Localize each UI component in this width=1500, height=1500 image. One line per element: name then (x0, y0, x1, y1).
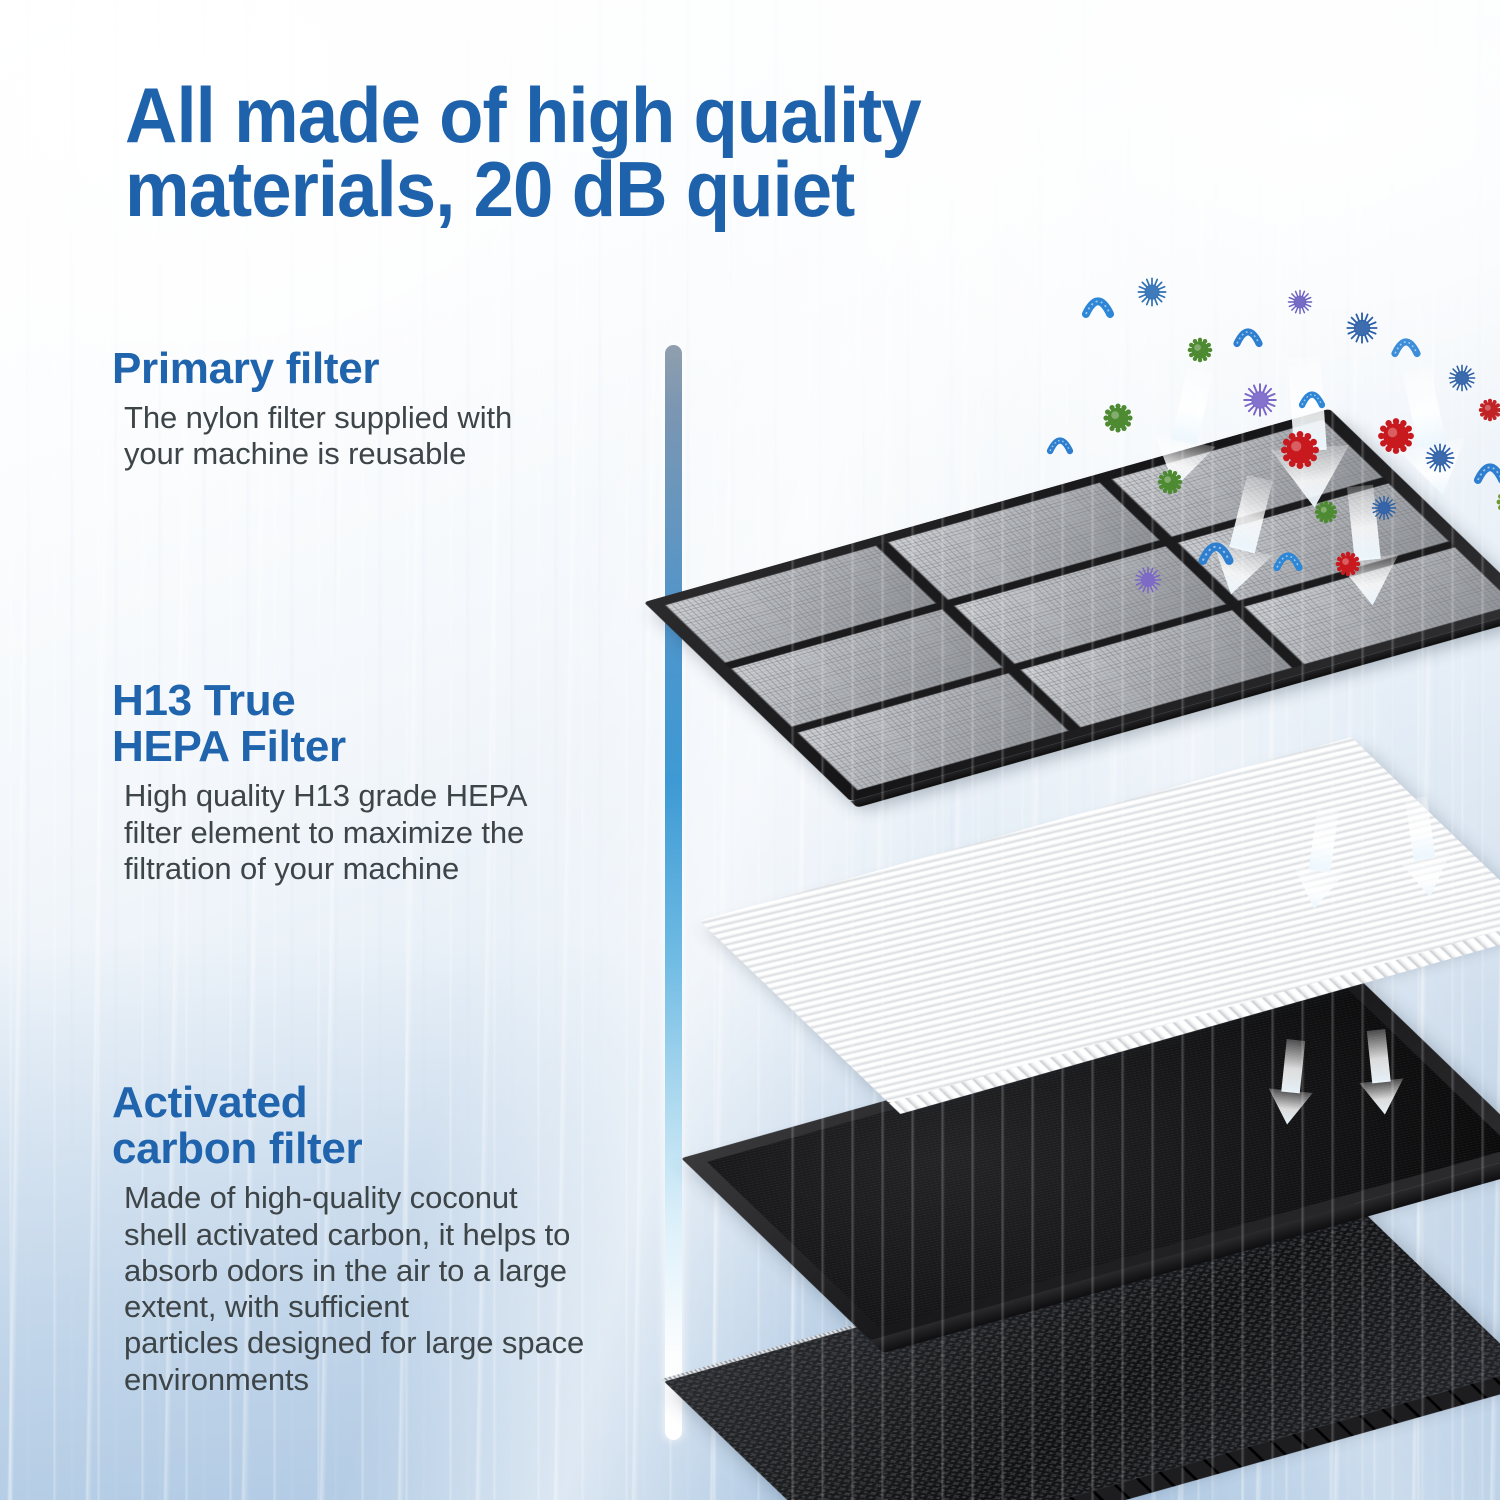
bacteria-rod-icon (1050, 441, 1070, 451)
feature-body-line-1: High quality H13 grade HEPA (124, 778, 672, 814)
carbon-slat-edge (849, 1368, 1500, 1500)
page-title: All made of high quality materials, 20 d… (125, 78, 1055, 226)
feature-body-carbon-filter: Made of high-quality coconut shell activ… (112, 1180, 672, 1398)
feature-section-carbon-filter: Activated carbon filter Made of high-qua… (112, 1080, 672, 1398)
feature-title-line-1: Primary filter (112, 346, 672, 392)
virus-spiky-icon (1449, 365, 1474, 390)
mesh-grid (664, 419, 1500, 790)
feature-title-line-1: H13 True (112, 678, 672, 724)
feature-title-hepa-filter: H13 True HEPA Filter (112, 678, 672, 770)
layer-primary-mesh-filter (644, 409, 1500, 802)
feature-body-line-3: absorb odors in the air to a large (124, 1253, 672, 1289)
feature-body-primary-filter: The nylon filter supplied with your mach… (112, 400, 672, 473)
bacteria-rod-icon (1395, 342, 1417, 354)
feature-title-line-2: carbon filter (112, 1126, 672, 1172)
bacteria-rod-icon (1237, 332, 1259, 344)
feature-body-line-6: environments (124, 1362, 672, 1398)
virus-spiky-icon (1244, 384, 1276, 416)
mesh-cell (797, 673, 1069, 791)
bacteria-rod-icon (1086, 301, 1110, 314)
mesh-cell (1020, 610, 1292, 728)
virus-spiky-icon (1138, 278, 1165, 305)
virus-spiky-icon (1288, 290, 1311, 313)
feature-body-line-1: The nylon filter supplied with (124, 400, 672, 436)
feature-title-line-1: Activated (112, 1080, 672, 1126)
virus-round-icon (1188, 338, 1213, 363)
virus-round-icon (1378, 418, 1414, 454)
feature-section-primary-filter: Primary filter The nylon filter supplied… (112, 346, 672, 473)
mesh-cell (664, 545, 936, 663)
feature-body-line-4: extent, with sufficient (124, 1289, 672, 1325)
virus-spiky-icon (1347, 313, 1376, 342)
page-title-line-2: materials, 20 dB quiet (125, 152, 1055, 226)
feature-body-line-2: shell activated carbon, it helps to (124, 1217, 672, 1253)
feature-title-carbon-filter: Activated carbon filter (112, 1080, 672, 1172)
virus-round-icon (1479, 399, 1500, 421)
feature-title-line-2: HEPA Filter (112, 724, 672, 770)
feature-section-hepa-filter: H13 True HEPA Filter High quality H13 gr… (112, 678, 672, 887)
mesh-cell (731, 609, 1003, 727)
filter-stack-illustration (700, 250, 1500, 1500)
feature-body-line-3: filtration of your machine (124, 851, 672, 887)
virus-round-icon (1103, 403, 1132, 432)
feature-title-primary-filter: Primary filter (112, 346, 672, 392)
feature-body-line-2: filter element to maximize the (124, 815, 672, 851)
virus-round-icon (1497, 489, 1500, 516)
feature-body-line-1: Made of high-quality coconut (124, 1180, 672, 1216)
mesh-frame-side-wall (851, 608, 1500, 808)
feature-body-line-5: particles designed for large space (124, 1325, 672, 1361)
bacteria-rod-icon (1478, 467, 1500, 480)
infographic-canvas: All made of high quality materials, 20 d… (0, 0, 1500, 1500)
virus-spiky-icon (1426, 444, 1453, 471)
bacteria-rod-icon (1302, 395, 1322, 405)
mesh-frame-border (644, 409, 1500, 802)
feature-body-line-2: your machine is reusable (124, 436, 672, 472)
feature-body-hepa-filter: High quality H13 grade HEPA filter eleme… (112, 778, 672, 887)
